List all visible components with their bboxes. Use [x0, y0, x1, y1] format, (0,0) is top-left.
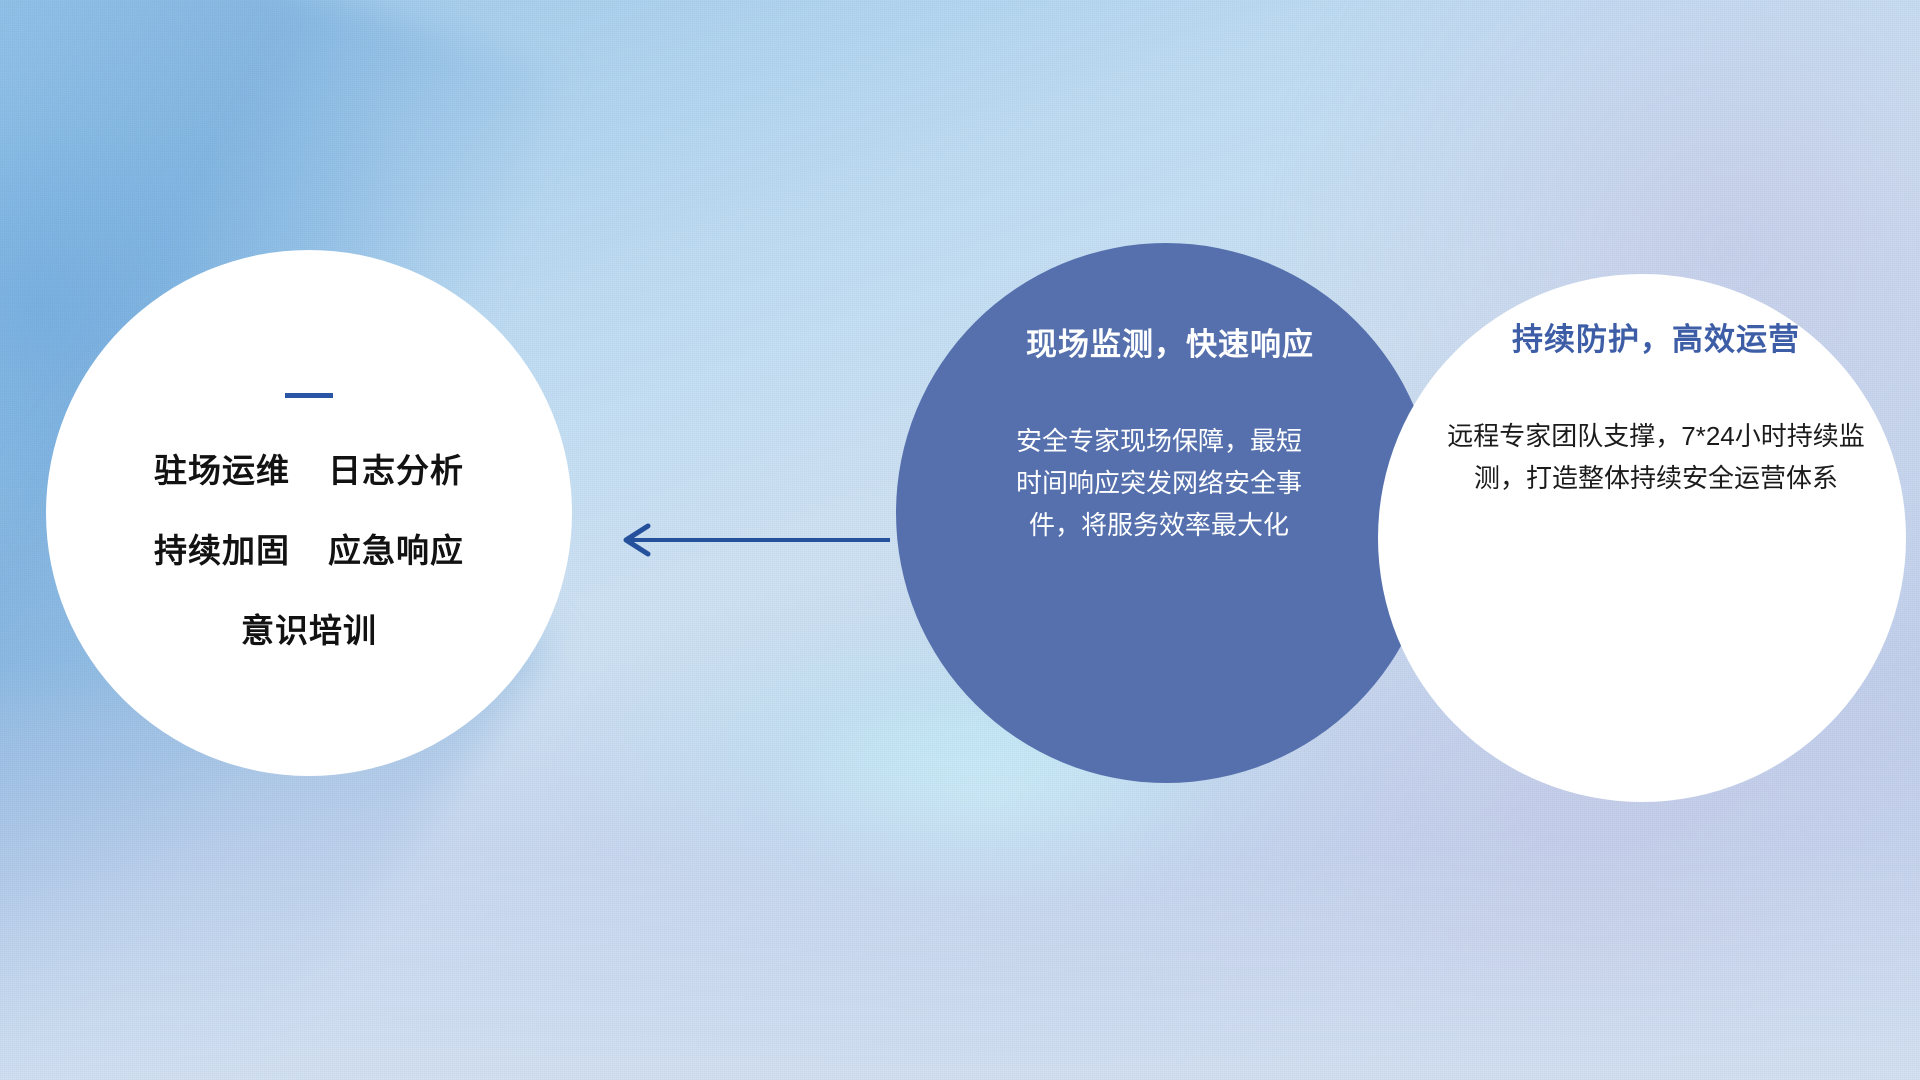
- tag-label: 意识培训: [241, 604, 377, 652]
- tag-label: 持续加固: [154, 524, 290, 572]
- onsite-monitoring-content: 现场监测，快速响应 安全专家现场保障，最短时间响应突发网络安全事件，将服务效率最…: [896, 243, 1436, 783]
- continuous-protection-circle[interactable]: 持续防护，高效运营 远程专家团队支撑，7*24小时持续监测，打造整体持续安全运营…: [1378, 274, 1906, 802]
- driven-ops-content: 驻场运维 日志分析 持续加固 应急响应 意识培训: [46, 250, 572, 776]
- onsite-monitoring-body: 安全专家现场保障，最短时间响应突发网络安全事件，将服务效率最大化: [1004, 420, 1314, 546]
- continuous-protection-heading: 持续防护，高效运营: [1512, 314, 1800, 359]
- tag-label: 应急响应: [328, 524, 464, 572]
- continuous-protection-content: 持续防护，高效运营 远程专家团队支撑，7*24小时持续监测，打造整体持续安全运营…: [1378, 274, 1906, 802]
- driven-ops-tag-row: 驻场运维 日志分析: [154, 444, 464, 492]
- diagram-canvas: 现场监测，快速响应 安全专家现场保障，最短时间响应突发网络安全事件，将服务效率最…: [0, 0, 1920, 1080]
- flow-arrow-left: [604, 520, 890, 560]
- driven-ops-tag-row: 持续加固 应急响应: [154, 524, 464, 572]
- driven-ops-circle[interactable]: 驻场运维 日志分析 持续加固 应急响应 意识培训: [46, 250, 572, 776]
- continuous-protection-body: 远程专家团队支撑，7*24小时持续监测，打造整体持续安全运营体系: [1444, 415, 1868, 499]
- accent-dash-icon: [285, 393, 333, 398]
- driven-ops-tag-list: 驻场运维 日志分析 持续加固 应急响应 意识培训: [154, 444, 464, 652]
- tag-label: 日志分析: [328, 444, 464, 492]
- onsite-monitoring-heading: 现场监测，快速响应: [1026, 319, 1314, 364]
- onsite-monitoring-circle[interactable]: 现场监测，快速响应 安全专家现场保障，最短时间响应突发网络安全事件，将服务效率最…: [896, 243, 1436, 783]
- tag-label: 驻场运维: [154, 444, 290, 492]
